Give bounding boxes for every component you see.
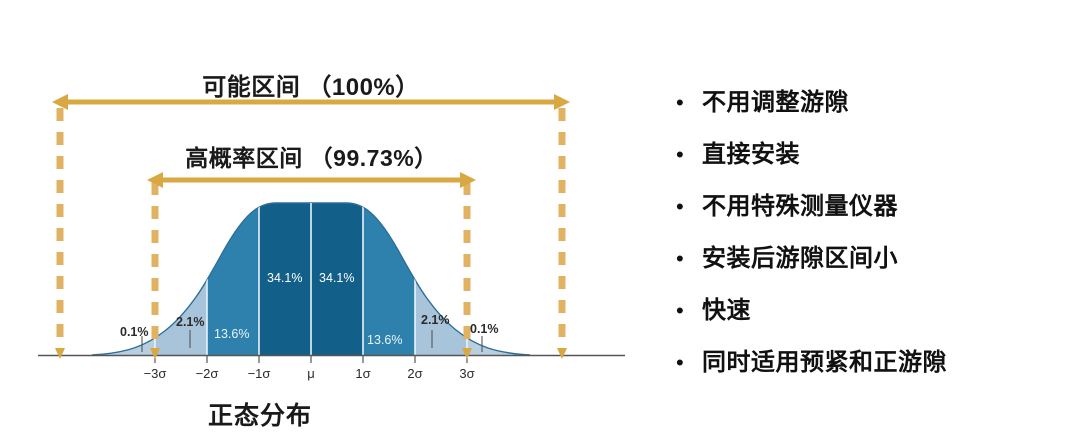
tail-label-left: 0.1% — [120, 325, 149, 339]
slide-root: 可能区间 （100%） 高概率区间 （99.73%） 34.1% 34.1% 1… — [0, 0, 1080, 438]
list-item-label: 快速 — [702, 296, 751, 326]
high-probability-range-arrow — [147, 172, 476, 188]
axis-ticks — [155, 355, 467, 363]
normal-distribution-chart: 可能区间 （100%） 高概率区间 （99.73%） 34.1% 34.1% 1… — [0, 0, 660, 438]
tick-label-2-sigma: 2σ — [395, 366, 435, 381]
band-label-mu-1: 34.1% — [319, 271, 354, 285]
bullet-icon: • — [672, 296, 702, 326]
list-item-label: 不用调整游隙 — [702, 88, 849, 118]
bullet-icon: • — [672, 244, 702, 274]
band-label-minus1-mu: 34.1% — [267, 271, 302, 285]
tail-label-right: 0.1% — [470, 322, 499, 336]
list-item-label: 直接安装 — [702, 140, 800, 170]
tick-label-1-sigma: 1σ — [343, 366, 383, 381]
chart-title: 正态分布 — [60, 396, 460, 432]
bullet-icon: • — [672, 192, 702, 222]
list-item: • 直接安装 — [672, 140, 1080, 192]
band-1-2 — [363, 195, 415, 356]
band-label-2-3: 2.1% — [421, 313, 450, 327]
band-label-1-2: 13.6% — [367, 333, 402, 347]
bullet-icon: • — [672, 88, 702, 118]
bullet-icon: • — [672, 348, 702, 378]
list-item: • 快速 — [672, 296, 1080, 348]
list-item: • 同时适用预紧和正游隙 — [672, 348, 1080, 400]
list-item-label: 不用特殊测量仪器 — [702, 192, 898, 222]
band-label-minus2-minus1: 13.6% — [214, 327, 249, 341]
possible-range-header: 可能区间 （100%） — [60, 67, 562, 102]
bullet-icon: • — [672, 140, 702, 170]
tick-label-3-sigma: 3σ — [447, 366, 487, 381]
tick-label-mu: μ — [291, 366, 331, 381]
high-probability-range-header: 高概率区间 （99.73%） — [155, 139, 468, 173]
list-item: • 安装后游隙区间小 — [672, 244, 1080, 296]
list-item: • 不用调整游隙 — [672, 88, 1080, 140]
tick-label-minus-1-sigma: −1σ — [239, 366, 279, 381]
list-item-label: 同时适用预紧和正游隙 — [702, 348, 947, 378]
band-label-minus3-minus2: 2.1% — [176, 315, 205, 329]
benefits-list: • 不用调整游隙 • 直接安装 • 不用特殊测量仪器 • 安装后游隙区间小 • … — [672, 88, 1080, 400]
list-item: • 不用特殊测量仪器 — [672, 192, 1080, 244]
list-item-label: 安装后游隙区间小 — [702, 244, 898, 274]
tick-label-minus-2-sigma: −2σ — [187, 366, 227, 381]
tick-label-minus-3-sigma: −3σ — [135, 366, 175, 381]
